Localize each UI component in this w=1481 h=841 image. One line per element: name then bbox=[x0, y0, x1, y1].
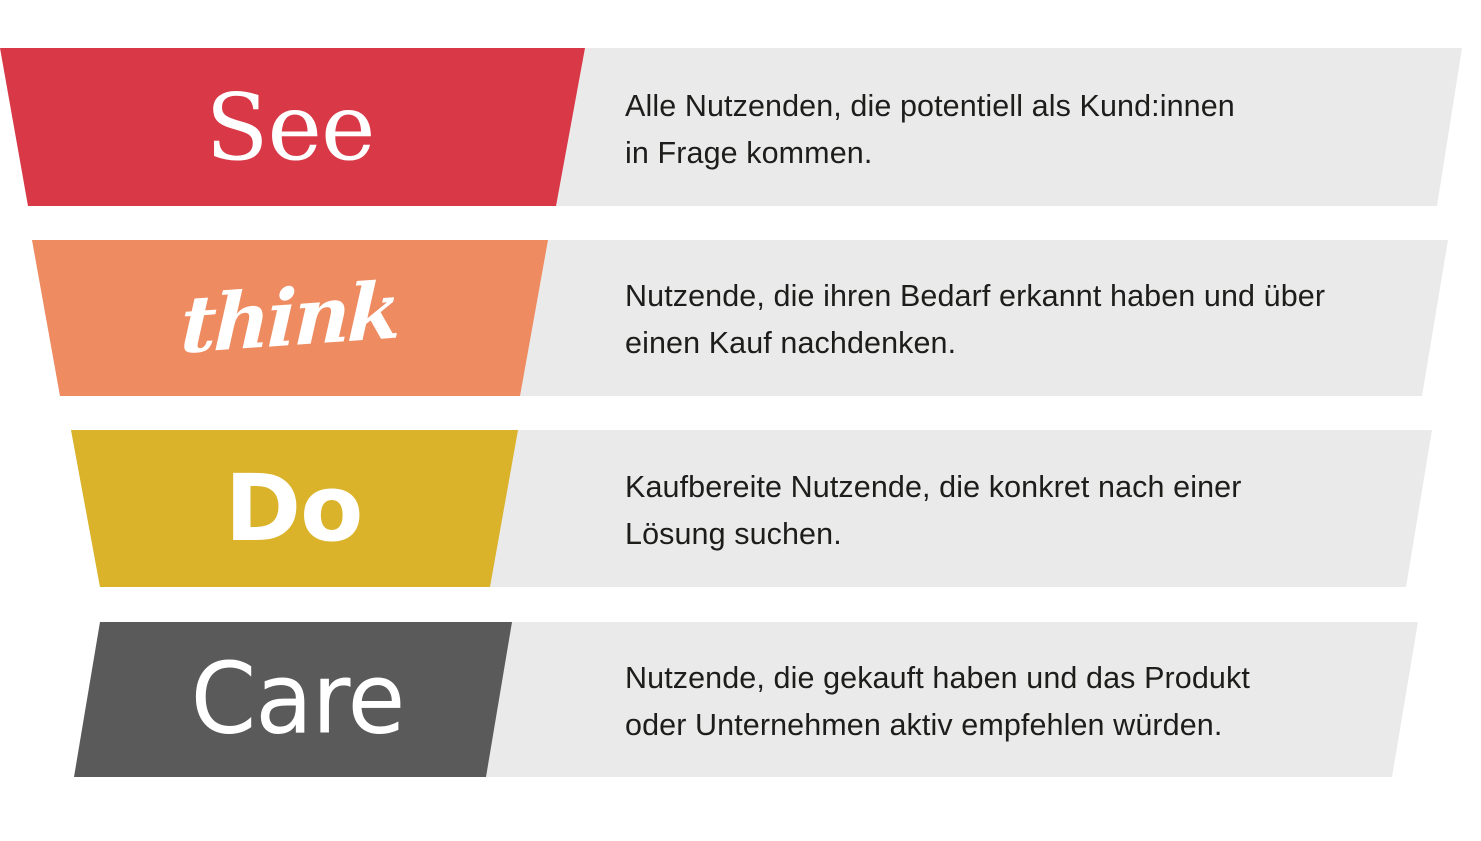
funnel-stage-care[interactable]: Care Nutzende, die gekauft haben und das… bbox=[0, 622, 1481, 777]
think-block-shape bbox=[32, 240, 548, 396]
care-stage-description: Nutzende, die gekauft haben und das Prod… bbox=[625, 655, 1405, 749]
do-block-shape bbox=[71, 430, 518, 587]
see-block-shape bbox=[0, 48, 585, 206]
do-stage-description: Kaufbereite Nutzende, die konkret nach e… bbox=[625, 464, 1385, 558]
think-stage-description: Nutzende, die ihren Bedarf erkannt haben… bbox=[625, 273, 1425, 367]
see-stage-description: Alle Nutzenden, die potentiell als Kund:… bbox=[625, 83, 1385, 177]
care-block-shape bbox=[74, 622, 512, 777]
funnel-diagram: See Alle Nutzenden, die potentiell als K… bbox=[0, 0, 1481, 841]
funnel-stage-see[interactable]: See Alle Nutzenden, die potentiell als K… bbox=[0, 48, 1481, 206]
funnel-stage-think[interactable]: think Nutzende, die ihren Bedarf erkannt… bbox=[0, 240, 1481, 396]
funnel-stage-do[interactable]: Do Kaufbereite Nutzende, die konkret nac… bbox=[0, 430, 1481, 587]
